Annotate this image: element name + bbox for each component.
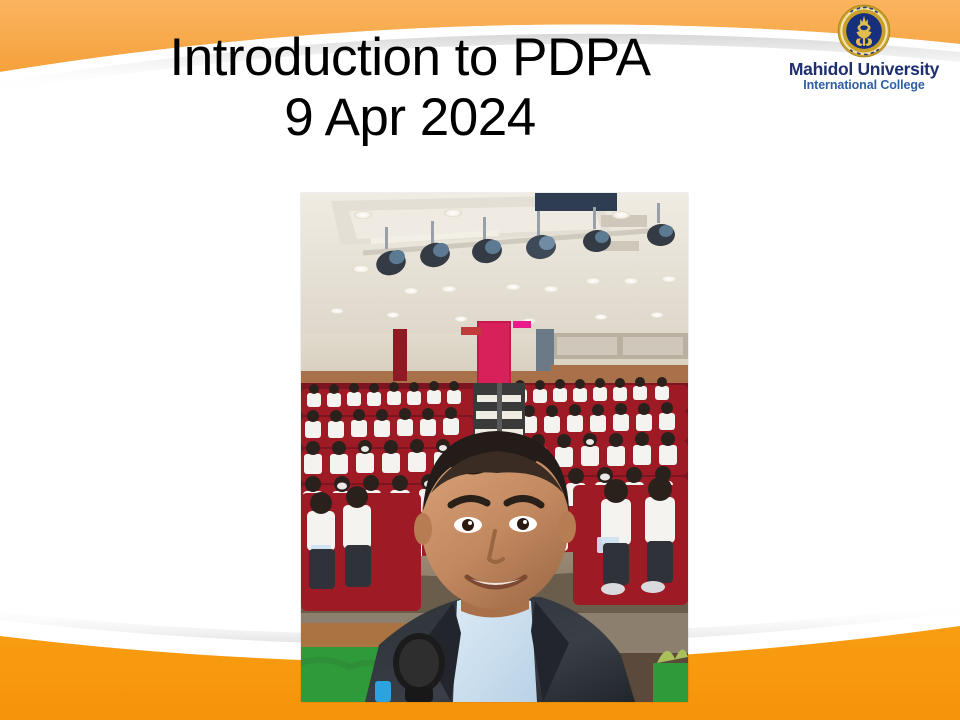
lecture-hall-selfie-photo [301,193,688,702]
mahidol-university-logo: Mahidol University International College [776,4,952,93]
title-line-1: Introduction to PDPA [60,28,760,88]
presentation-slide: Introduction to PDPA 9 Apr 2024 [0,0,960,720]
logo-organization-name: Mahidol University [776,60,952,78]
logo-unit-name: International College [776,78,952,92]
mahidol-university-seal-icon [837,4,891,58]
title-line-2: 9 Apr 2024 [60,88,760,148]
slide-title: Introduction to PDPA 9 Apr 2024 [60,28,760,149]
